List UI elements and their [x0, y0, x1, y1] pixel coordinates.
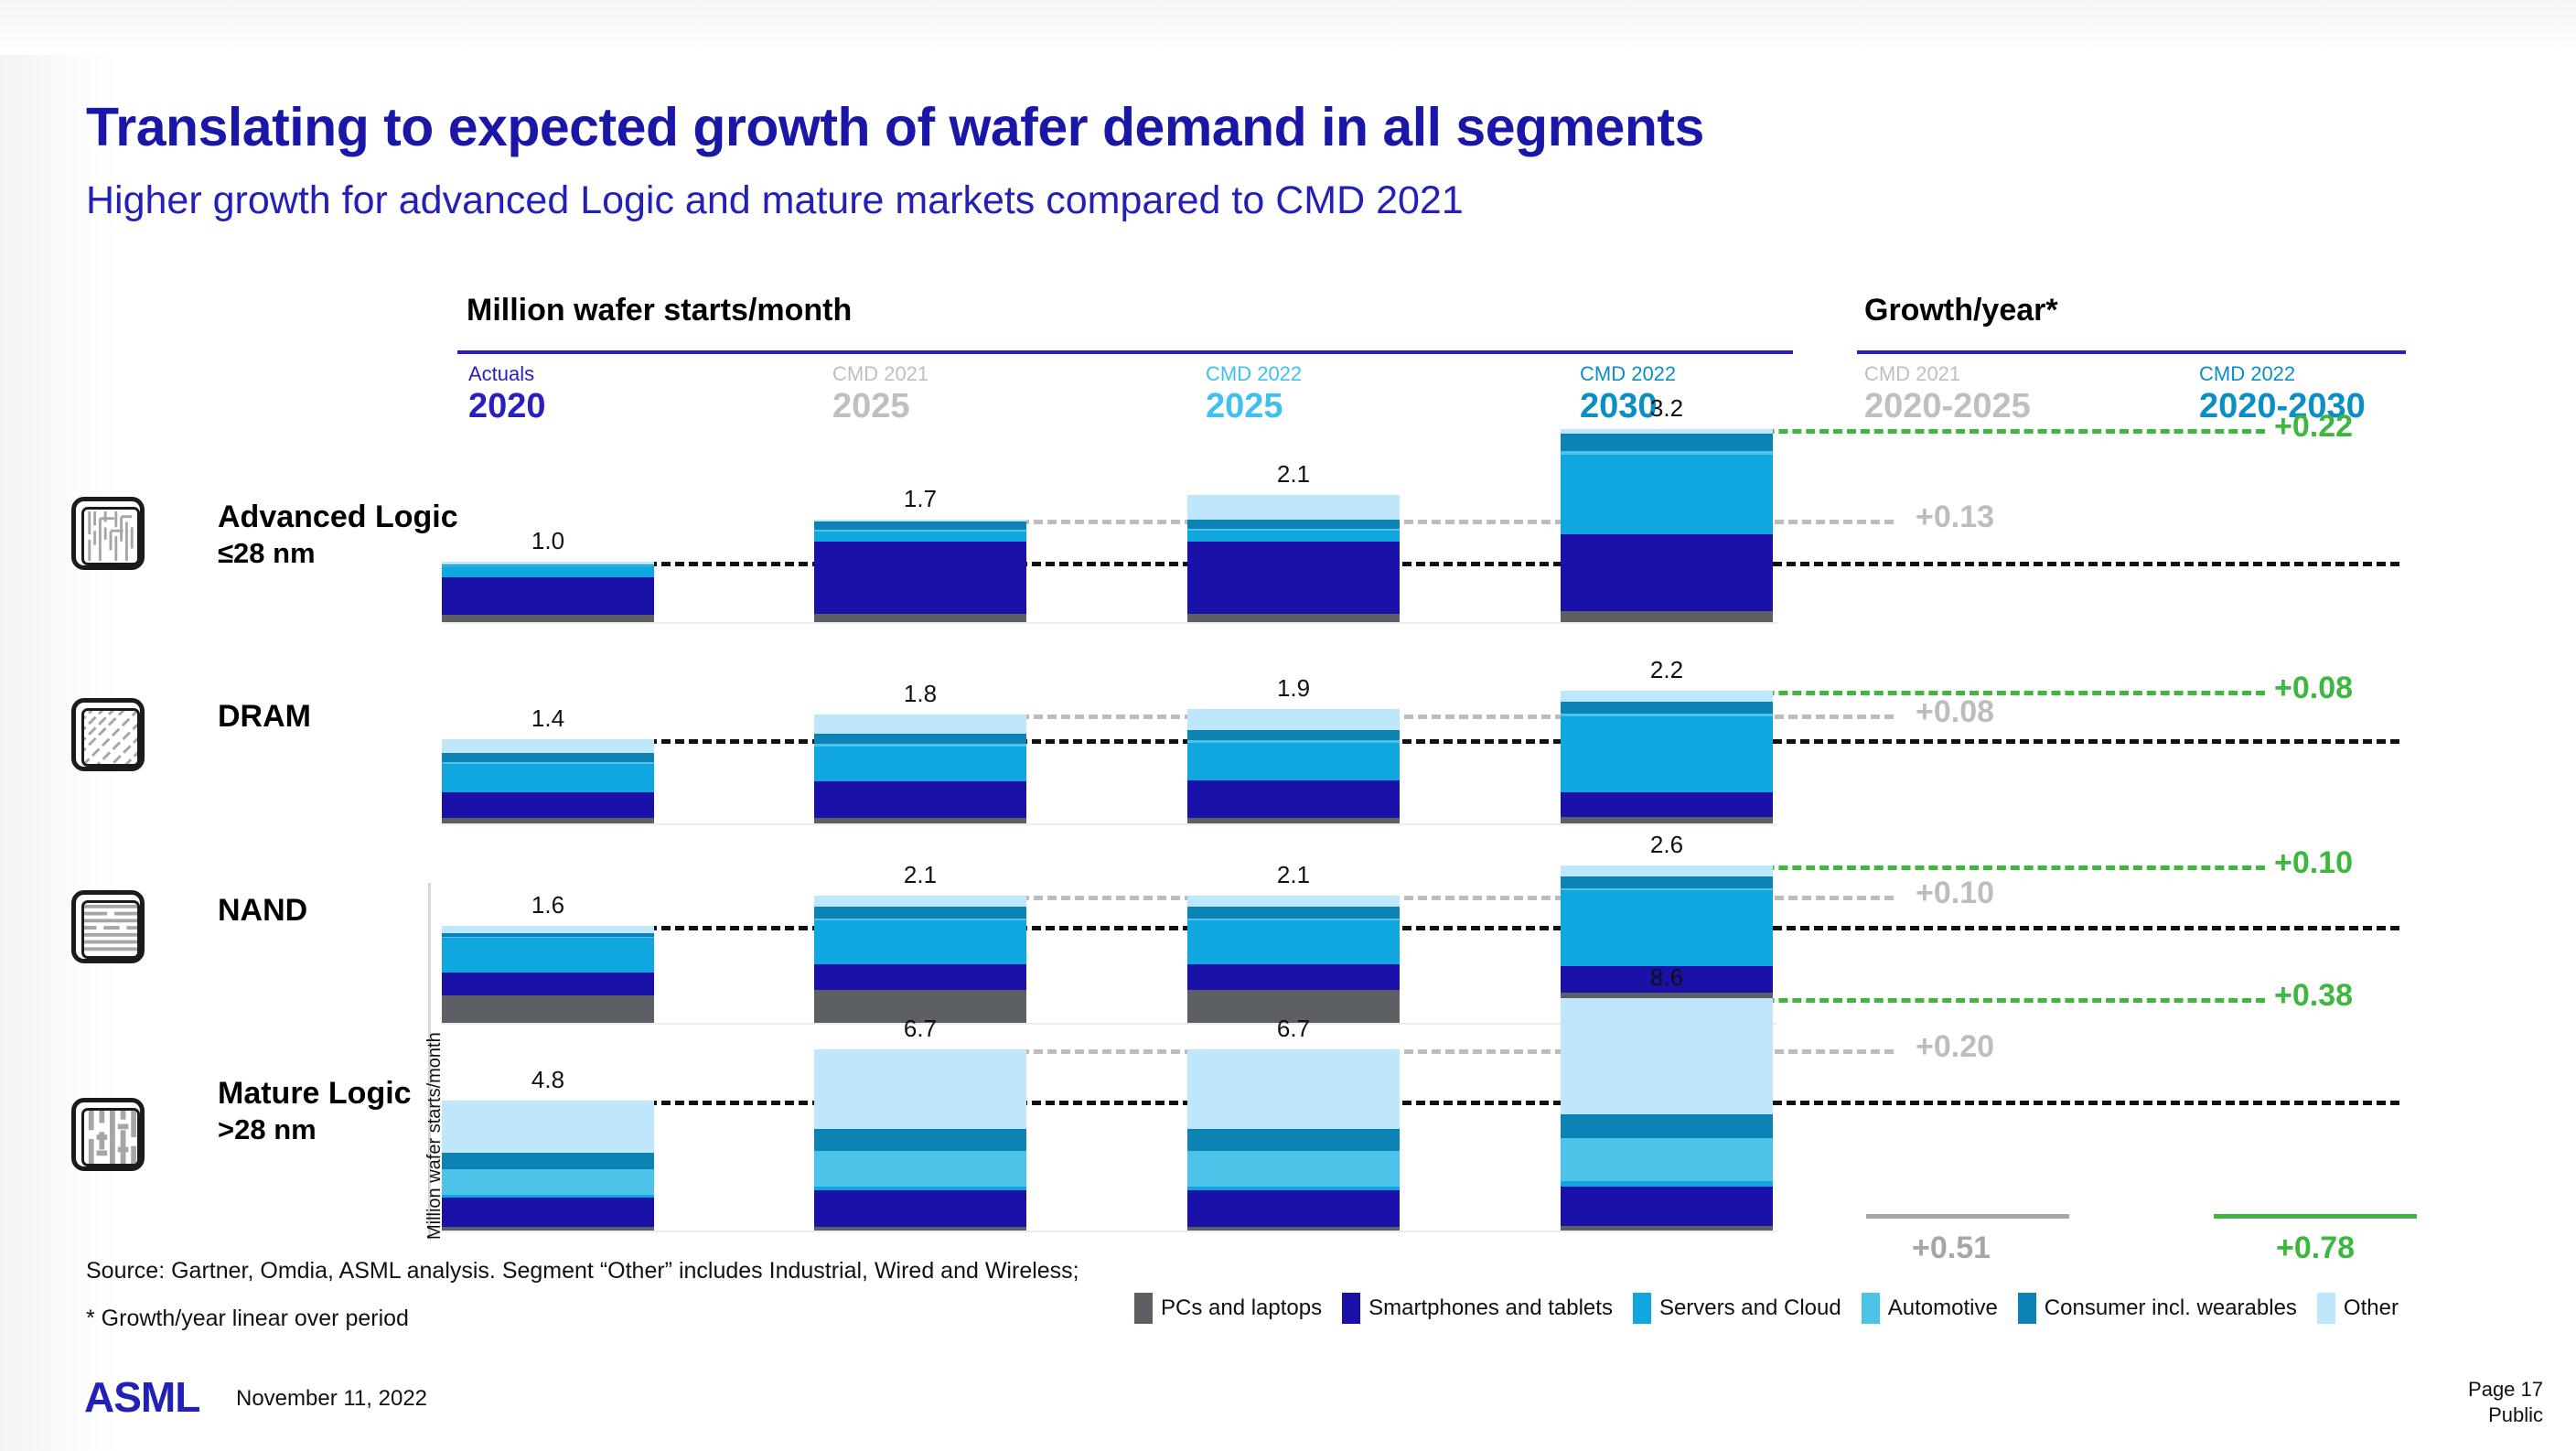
legend-swatch-icon — [2018, 1293, 2036, 1324]
stacked-bar — [814, 1049, 1026, 1231]
row-sub-0: ≤28 nm — [218, 535, 458, 572]
page-subtitle: Higher growth for advanced Logic and mat… — [86, 178, 1464, 223]
bar-value-label: 2.6 — [1561, 831, 1773, 859]
chart-legend: PCs and laptopsSmartphones and tabletsSe… — [1134, 1293, 2419, 1324]
presentation-date: November 11, 2022 — [236, 1386, 427, 1412]
legend-item: Servers and Cloud — [1633, 1293, 1841, 1324]
row-label-advanced-logic: Advanced Logic ≤28 nm — [218, 499, 458, 572]
legend-item: Consumer incl. wearables — [2018, 1293, 2297, 1324]
stacked-bar — [1187, 1049, 1400, 1231]
bar-segment — [814, 964, 1026, 990]
footnote-star: * Growth/year linear over period — [86, 1306, 409, 1332]
bar-segment — [814, 542, 1026, 614]
bar-segment — [814, 818, 1026, 823]
bar-segment — [814, 715, 1026, 734]
bar-segment — [1561, 534, 1773, 611]
bar-segment — [442, 615, 654, 622]
bar-segment — [442, 577, 654, 616]
bar-segment — [1561, 817, 1773, 823]
column-cmd-0: Actuals — [468, 362, 546, 386]
growth-column-cmd-0: CMD 2021 — [1864, 362, 2031, 386]
bar-segment — [1187, 520, 1400, 529]
bar-value-label: 2.1 — [1187, 861, 1400, 889]
bar-segment — [1187, 1049, 1400, 1128]
stacked-bar — [1187, 495, 1400, 622]
bar-value-label: 6.7 — [814, 1015, 1026, 1043]
legend-swatch-icon — [1862, 1293, 1880, 1324]
stacked-bar — [814, 715, 1026, 823]
bar-segment — [814, 1049, 1026, 1128]
row-name-3: Mature Logic — [218, 1075, 412, 1112]
legend-swatch-icon — [1342, 1293, 1360, 1324]
reference-line-2020 — [442, 926, 2399, 930]
bar-segment — [442, 973, 654, 995]
bar-segment — [1561, 434, 1773, 450]
mature-logic-chip-icon — [71, 1098, 145, 1171]
growth-column-cmd-1: CMD 2022 — [2199, 362, 2366, 386]
nand-chip-icon — [71, 890, 145, 963]
bar-segment — [1187, 709, 1400, 731]
bar-segment — [442, 764, 654, 792]
header-rule-right — [1857, 350, 2406, 354]
legend-label: Automotive — [1888, 1295, 1998, 1321]
bar-segment — [442, 1198, 654, 1227]
column-cmd-3: CMD 2022 — [1580, 362, 1676, 386]
baseline-gridline — [442, 622, 1777, 624]
column-year-1: 2025 — [832, 386, 928, 426]
bar-segment — [1561, 1138, 1773, 1182]
bar-segment — [1561, 691, 1773, 703]
bar-segment — [1187, 730, 1400, 740]
bar-segment — [442, 566, 654, 576]
stacked-bar — [442, 739, 654, 823]
bar-segment — [1187, 495, 1400, 520]
page-number: Page 17 — [2468, 1377, 2543, 1403]
bar-segment — [1561, 1114, 1773, 1137]
baseline-gridline — [442, 823, 1777, 825]
bar-segment — [1561, 876, 1773, 888]
page-title: Translating to expected growth of wafer … — [86, 96, 1704, 158]
stacked-bar — [442, 1101, 654, 1231]
legend-item: Automotive — [1862, 1293, 1998, 1324]
bar-value-label: 2.2 — [1561, 656, 1773, 684]
baseline-gridline — [442, 1231, 1777, 1232]
legend-swatch-icon — [1134, 1293, 1153, 1324]
bar-segment — [1561, 611, 1773, 622]
legend-item: Smartphones and tablets — [1342, 1293, 1613, 1324]
column-header-1: CMD 2021 2025 — [832, 362, 928, 426]
row-name-0: Advanced Logic — [218, 499, 458, 535]
bar-segment — [1187, 743, 1400, 781]
row-name-2: NAND — [218, 892, 307, 929]
bar-value-label: 4.8 — [442, 1066, 654, 1094]
stacked-bar — [442, 926, 654, 1023]
bar-segment — [814, 896, 1026, 906]
bar-segment — [814, 532, 1026, 542]
chart-header-left: Million wafer starts/month — [467, 293, 852, 328]
bar-segment — [1187, 964, 1400, 990]
growth-column-period-0: 2020-2025 — [1864, 386, 2031, 426]
column-header-2: CMD 2022 2025 — [1206, 362, 1302, 426]
column-year-2: 2025 — [1206, 386, 1302, 426]
bar-segment — [814, 1151, 1026, 1187]
bar-segment — [442, 1153, 654, 1169]
stacked-bar — [814, 520, 1026, 622]
total-line-cmd2021 — [1866, 1214, 2069, 1219]
stacked-bar — [1187, 709, 1400, 823]
growth-value-cmd2022: +0.22 — [2274, 409, 2353, 445]
growth-value-cmd2022: +0.08 — [2274, 671, 2353, 706]
bar-value-label: 1.6 — [442, 891, 654, 919]
stacked-bar — [814, 896, 1026, 1023]
source-note: Source: Gartner, Omdia, ASML analysis. S… — [86, 1258, 1079, 1284]
bar-segment — [1561, 1187, 1773, 1227]
bar-segment — [1187, 780, 1400, 818]
bar-value-label: 2.1 — [814, 861, 1026, 889]
bar-segment — [1187, 1190, 1400, 1227]
total-growth-cmd2022: +0.78 — [2276, 1231, 2355, 1266]
dram-chip-icon — [71, 698, 145, 771]
chart-header-right: Growth/year* — [1864, 293, 2058, 328]
total-line-cmd2022 — [2214, 1214, 2417, 1219]
row-label-nand: NAND — [218, 892, 307, 929]
bar-value-label: 6.7 — [1187, 1015, 1400, 1043]
column-year-0: 2020 — [468, 386, 546, 426]
bar-segment — [1187, 907, 1400, 919]
bar-segment — [442, 926, 654, 933]
growth-value-cmd2022: +0.38 — [2274, 978, 2353, 1014]
column-cmd-1: CMD 2021 — [832, 362, 928, 386]
bar-segment — [1187, 818, 1400, 823]
reference-line-2020 — [442, 562, 2399, 566]
row-label-mature-logic: Mature Logic >28 nm — [218, 1075, 412, 1148]
bar-segment — [1561, 702, 1773, 714]
bar-segment — [442, 818, 654, 823]
bar-segment — [442, 753, 654, 761]
bar-segment — [442, 1169, 654, 1195]
bar-segment — [442, 739, 654, 754]
row-name-1: DRAM — [218, 698, 311, 735]
legend-label: Servers and Cloud — [1659, 1295, 1841, 1321]
classification-label: Public — [2468, 1403, 2543, 1428]
legend-label: Smartphones and tablets — [1368, 1295, 1613, 1321]
bar-segment — [442, 995, 654, 1023]
bar-segment — [1561, 1226, 1773, 1231]
advanced-logic-chip-icon — [71, 497, 145, 570]
bar-value-label: 1.9 — [1187, 674, 1400, 703]
background-wash-top — [0, 0, 2576, 55]
legend-swatch-icon — [1633, 1293, 1651, 1324]
bar-segment — [814, 1129, 1026, 1151]
column-cmd-2: CMD 2022 — [1206, 362, 1302, 386]
growth-column-header-0: CMD 2021 2020-2025 — [1864, 362, 2031, 426]
growth-value-cmd2021: +0.08 — [1916, 694, 1994, 730]
bar-segment — [1187, 1227, 1400, 1231]
bar-segment — [814, 614, 1026, 622]
bar-segment — [814, 781, 1026, 818]
bar-segment — [814, 907, 1026, 919]
legend-label: Other — [2344, 1295, 2399, 1321]
column-header-0: Actuals 2020 — [468, 362, 546, 426]
growth-value-cmd2021: +0.10 — [1916, 876, 1994, 911]
stacked-bar — [442, 562, 654, 622]
bar-segment — [1187, 531, 1400, 541]
bar-segment — [1561, 792, 1773, 818]
legend-swatch-icon — [2317, 1293, 2335, 1324]
slide: Translating to expected growth of wafer … — [0, 0, 2576, 1451]
bar-segment — [814, 521, 1026, 530]
stacked-bar — [1561, 429, 1773, 622]
bar-value-label: 1.4 — [442, 704, 654, 733]
bar-segment — [442, 938, 654, 973]
asml-logo: ASML — [84, 1372, 199, 1422]
bar-segment — [1187, 614, 1400, 622]
bar-segment — [1187, 896, 1400, 906]
bar-value-label: 3.2 — [1561, 394, 1773, 423]
bar-segment — [814, 747, 1026, 782]
bar-segment — [1561, 865, 1773, 876]
bar-segment — [814, 734, 1026, 744]
bar-segment — [1187, 1151, 1400, 1187]
reference-line-2020 — [442, 739, 2399, 744]
row-sub-3: >28 nm — [218, 1112, 412, 1148]
growth-value-cmd2022: +0.10 — [2274, 845, 2353, 881]
legend-label: PCs and laptops — [1161, 1295, 1322, 1321]
legend-item: PCs and laptops — [1134, 1293, 1322, 1324]
bar-segment — [1561, 890, 1773, 965]
growth-value-cmd2021: +0.13 — [1916, 500, 1994, 535]
bar-value-label: 2.1 — [1187, 460, 1400, 489]
bar-value-label: 1.7 — [814, 485, 1026, 513]
bar-value-label: 1.8 — [814, 680, 1026, 708]
bar-segment — [1187, 920, 1400, 964]
row-label-dram: DRAM — [218, 698, 311, 735]
bar-value-label: 1.0 — [442, 527, 654, 555]
page-info: Page 17 Public — [2468, 1377, 2543, 1428]
bar-segment — [814, 1190, 1026, 1227]
bar-value-label: 8.6 — [1561, 963, 1773, 992]
stacked-bar — [1561, 998, 1773, 1231]
legend-item: Other — [2317, 1293, 2399, 1324]
growth-value-cmd2021: +0.20 — [1916, 1029, 1994, 1065]
bar-segment — [1561, 455, 1773, 534]
bar-segment — [1187, 1129, 1400, 1151]
total-growth-cmd2021: +0.51 — [1912, 1231, 1991, 1266]
legend-label: Consumer incl. wearables — [2045, 1295, 2297, 1321]
bar-segment — [1561, 716, 1773, 791]
stacked-bar — [1187, 896, 1400, 1023]
bar-segment — [814, 1227, 1026, 1231]
reference-line-2020 — [442, 1101, 2399, 1105]
bar-segment — [442, 1227, 654, 1231]
bar-segment — [1187, 542, 1400, 614]
bar-segment — [814, 920, 1026, 964]
bar-segment — [442, 1101, 654, 1153]
header-rule-left — [457, 350, 1793, 354]
stacked-bar — [1561, 691, 1773, 823]
bar-segment — [1561, 998, 1773, 1114]
bar-segment — [442, 792, 654, 818]
